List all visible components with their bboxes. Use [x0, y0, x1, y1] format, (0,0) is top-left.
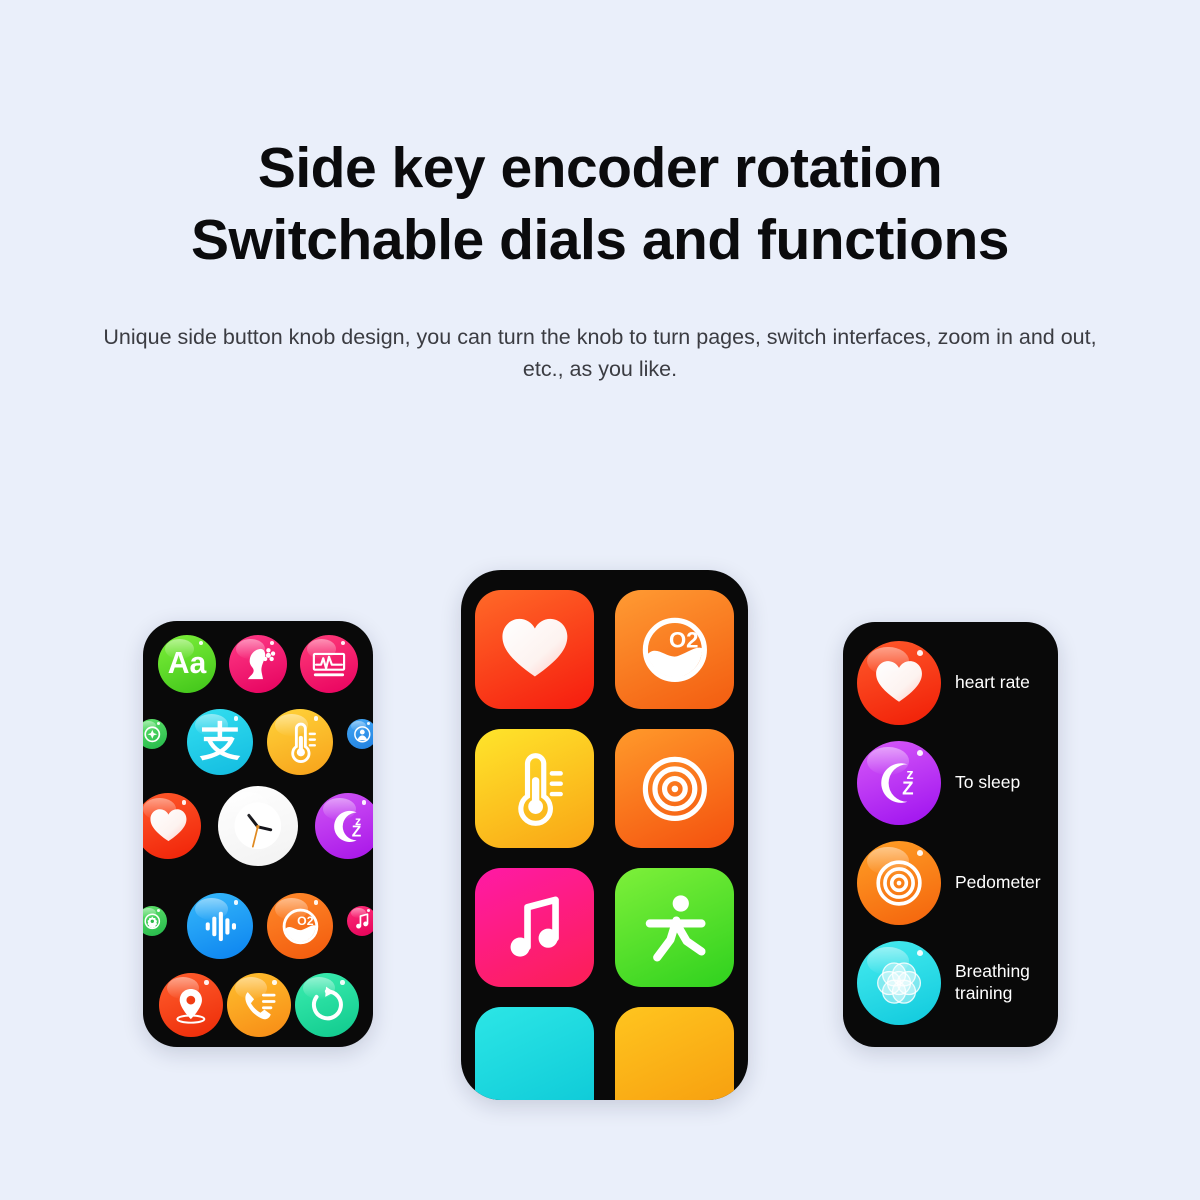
flower-icon[interactable]	[857, 941, 941, 1025]
location-pin-icon-glyph	[159, 973, 223, 1037]
location-pin-icon[interactable]	[159, 973, 223, 1037]
target-icon[interactable]	[857, 841, 941, 925]
settings-gear-icon[interactable]	[143, 906, 167, 936]
to-sleep-row[interactable]: zZTo sleep	[857, 740, 1045, 826]
watch-left-honeycomb-screen[interactable]: Aa支zZO2	[143, 621, 373, 1047]
pedometer-row[interactable]: Pedometer	[857, 840, 1045, 926]
blood-oxygen-icon[interactable]: O2	[267, 893, 333, 959]
pedometer-tile[interactable]	[615, 729, 734, 848]
page-title-line-1: Side key encoder rotation	[0, 132, 1200, 204]
pedometer-row-label: Pedometer	[955, 872, 1045, 894]
thermometer-tile-glyph	[475, 729, 594, 848]
svg-text:O2: O2	[669, 627, 699, 652]
sport-tile-glyph	[615, 868, 734, 987]
compass-icon-glyph	[143, 719, 167, 749]
font-size-icon-glyph: Aa	[158, 635, 216, 693]
music-note-icon[interactable]	[347, 906, 373, 936]
pedometer-tile-glyph	[615, 729, 734, 848]
heart-icon[interactable]	[857, 641, 941, 725]
sleep-icon[interactable]: zZ	[315, 793, 373, 859]
settings-gear-icon-glyph	[143, 906, 167, 936]
gloss-spark	[204, 980, 208, 984]
gloss-spark	[917, 850, 923, 856]
target-icon-glyph	[857, 841, 941, 925]
page-title: Side key encoder rotation Switchable dia…	[0, 0, 1200, 277]
watch-face-icon[interactable]	[218, 786, 298, 866]
beauty-face-icon-glyph	[229, 635, 287, 693]
ecg-chart-icon-glyph	[300, 635, 358, 693]
breathing-training-row-label: Breathing training	[955, 961, 1045, 1004]
heart-rate-tile-glyph	[475, 590, 594, 709]
refresh-icon[interactable]	[295, 973, 359, 1037]
partial-orange-tile-glyph	[615, 1007, 734, 1100]
thermometer-icon[interactable]	[267, 709, 333, 775]
watch-face-icon-glyph	[218, 786, 298, 866]
watch-right-list-screen[interactable]: heart ratezZTo sleepPedometerBreathing t…	[843, 622, 1058, 1047]
thermometer-icon-glyph	[267, 709, 333, 775]
breathing-training-row[interactable]: Breathing training	[857, 940, 1045, 1026]
music-tile[interactable]	[475, 868, 594, 987]
ecg-chart-icon[interactable]	[300, 635, 358, 693]
gloss-spark	[272, 980, 276, 984]
blood-oxygen-tile[interactable]: O2	[615, 590, 734, 709]
gloss-spark	[917, 650, 923, 656]
contacts-icon[interactable]	[347, 719, 373, 749]
honeycomb-app-grid: Aa支zZO2	[143, 621, 373, 1047]
to-sleep-row-label: To sleep	[955, 772, 1045, 794]
flower-icon-glyph	[857, 941, 941, 1025]
svg-text:Z: Z	[351, 823, 361, 840]
voice-recorder-icon-glyph	[187, 893, 253, 959]
alipay-icon[interactable]: 支	[187, 709, 253, 775]
heart-rate-row[interactable]: heart rate	[857, 640, 1045, 726]
heart-rate-icon-glyph	[143, 793, 201, 859]
beauty-face-icon[interactable]	[229, 635, 287, 693]
svg-text:O2: O2	[297, 914, 314, 928]
compass-icon[interactable]	[143, 719, 167, 749]
call-log-icon[interactable]	[227, 973, 291, 1037]
blood-oxygen-icon-glyph: O2	[267, 893, 333, 959]
voice-recorder-icon[interactable]	[187, 893, 253, 959]
call-log-icon-glyph	[227, 973, 291, 1037]
blood-oxygen-tile-glyph: O2	[615, 590, 734, 709]
heart-rate-icon[interactable]	[143, 793, 201, 859]
gloss-spark	[917, 950, 923, 956]
partial-cyan-tile[interactable]	[475, 1007, 594, 1100]
music-tile-glyph	[475, 868, 594, 987]
page-title-line-2: Switchable dials and functions	[0, 204, 1200, 276]
heart-rate-tile[interactable]	[475, 590, 594, 709]
svg-text:Z: Z	[902, 777, 913, 798]
function-list: heart ratezZTo sleepPedometerBreathing t…	[857, 640, 1045, 1026]
heart-icon-glyph	[857, 641, 941, 725]
moon-zzz-icon-glyph: zZ	[857, 741, 941, 825]
watch-middle-tile-screen[interactable]: O2	[461, 570, 748, 1100]
moon-zzz-icon[interactable]: zZ	[857, 741, 941, 825]
tile-app-grid: O2	[475, 590, 734, 1100]
sport-tile[interactable]	[615, 868, 734, 987]
font-size-icon[interactable]: Aa	[158, 635, 216, 693]
alipay-icon-glyph: 支	[187, 709, 253, 775]
refresh-icon-glyph	[295, 973, 359, 1037]
gloss-spark	[917, 750, 923, 756]
page-subtitle: Unique side button knob design, you can …	[95, 277, 1105, 386]
heart-rate-row-label: heart rate	[955, 672, 1045, 694]
partial-orange-tile[interactable]	[615, 1007, 734, 1100]
partial-cyan-tile-glyph	[475, 1007, 594, 1100]
thermometer-tile[interactable]	[475, 729, 594, 848]
page-header: Side key encoder rotation Switchable dia…	[0, 0, 1200, 386]
gloss-spark	[340, 980, 344, 984]
